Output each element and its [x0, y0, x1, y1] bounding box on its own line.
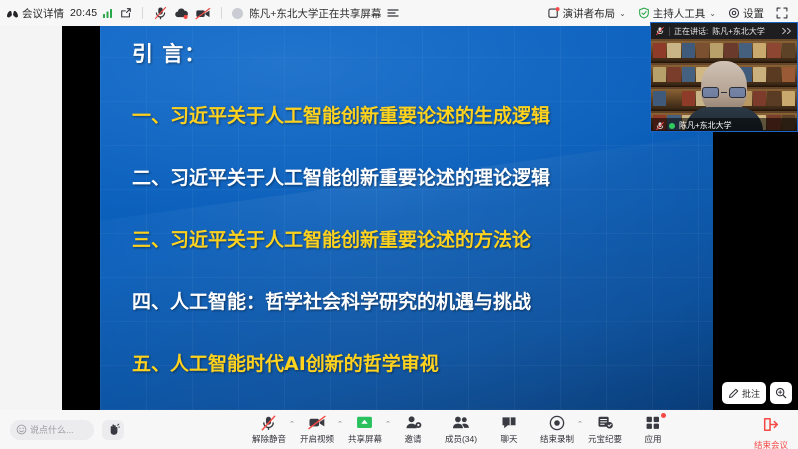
slide-content: 引 言： 一、习近平关于人工智能创新重要论述的生成逻辑 二、习近平关于人工智能创…: [100, 26, 713, 410]
shield-check-icon: [638, 7, 650, 19]
book: [782, 91, 795, 106]
divider: [669, 27, 670, 36]
settings-button[interactable]: 设置: [728, 6, 764, 21]
chat-bubble-icon: [501, 414, 517, 431]
speaking-prefix-label: 正在讲话:: [674, 26, 708, 37]
share-screen-button[interactable]: ⌃ 共享屏幕: [348, 414, 382, 445]
cloud-recording-icon[interactable]: [174, 7, 189, 20]
slide-line-3: 三、习近平关于人工智能创新重要论述的方法论: [132, 231, 713, 250]
book: [782, 43, 795, 58]
participants-button[interactable]: 成员(34): [444, 414, 478, 445]
end-meeting-label: 结束会议: [754, 439, 788, 449]
slide-line-2: 二、习近平关于人工智能创新重要论述的理论逻辑: [132, 169, 713, 188]
raise-hand-icon: [107, 423, 120, 436]
mic-muted-icon[interactable]: [153, 6, 168, 20]
divider: [142, 7, 143, 19]
apps-badge-dot: [661, 413, 666, 418]
slide-line-0: 引 言：: [132, 44, 713, 65]
book: [667, 43, 680, 58]
invite-button[interactable]: 邀请: [396, 414, 430, 445]
book: [667, 91, 680, 106]
meeting-detail-label: 会议详情: [22, 6, 64, 21]
video-off-icon: [308, 414, 326, 431]
host-tools-button[interactable]: 主持人工具 ⌄: [638, 6, 716, 21]
avatar-icon: [232, 8, 243, 19]
presentation-slide: 引 言： 一、习近平关于人工智能创新重要论述的生成逻辑 二、习近平关于人工智能创…: [100, 26, 713, 410]
book: [767, 67, 780, 82]
book: [653, 91, 666, 106]
gear-icon: [728, 7, 740, 19]
speaker-name-label: 陈凡+东北大学: [712, 26, 765, 37]
book: [782, 67, 795, 82]
pencil-icon: [728, 388, 739, 399]
signal-bars-icon[interactable]: [103, 8, 114, 18]
zoom-button[interactable]: [770, 382, 792, 404]
emoji-icon[interactable]: [16, 424, 27, 435]
chevron-up-icon[interactable]: ⌃: [577, 420, 583, 428]
exit-door-icon: [763, 417, 779, 437]
slide-line-5: 五、人工智能时代AI创新的哲学审视: [132, 355, 713, 374]
sharing-status-label: 陈凡+东北大学正在共享屏幕: [249, 6, 381, 21]
participants-label: 成员(34): [445, 433, 477, 445]
ai-notes-button[interactable]: 元宝纪要: [588, 414, 622, 445]
lens: [702, 87, 719, 98]
chat-button[interactable]: 聊天: [492, 414, 526, 445]
invite-user-icon: [405, 414, 422, 431]
layout-icon: [548, 7, 560, 19]
raise-hand-button[interactable]: [102, 420, 124, 440]
thumbnail-video-feed: 陈凡+东北大学: [651, 39, 797, 132]
chevron-up-icon[interactable]: ⌃: [385, 420, 391, 428]
unmute-button[interactable]: ⌃ 解除静音: [252, 414, 286, 445]
slide-line-1: 一、习近平关于人工智能创新重要论述的生成逻辑: [132, 107, 713, 126]
external-link-icon[interactable]: [120, 7, 132, 19]
thumbnail-footer: 陈凡+东北大学: [651, 118, 797, 132]
slide-line-4: 四、人工智能：哲学社会科学研究的机遇与挑战: [132, 293, 713, 312]
apps-grid-icon: [645, 414, 661, 431]
unmute-label: 解除静音: [252, 433, 286, 445]
apps-button[interactable]: 应用: [636, 414, 670, 445]
bottom-toolbar-center: ⌃ 解除静音 ⌃ 开启视频 ⌃ 共享屏幕: [252, 414, 670, 445]
fullscreen-icon[interactable]: [776, 7, 788, 19]
slide-tools: 批注: [722, 382, 792, 404]
chevrons-icon[interactable]: [781, 27, 793, 35]
invite-label: 邀请: [404, 433, 421, 445]
top-toolbar-left: 会议详情 20:45 陈凡+东北大学正在共享屏幕: [6, 6, 399, 21]
settings-label: 设置: [743, 6, 764, 21]
ai-notes-label: 元宝纪要: [588, 433, 622, 445]
annotate-label: 批注: [742, 387, 760, 400]
list-icon[interactable]: [387, 8, 399, 18]
stop-recording-label: 结束录制: [540, 433, 574, 445]
thumbnail-header: 正在讲话: 陈凡+东北大学: [651, 23, 797, 39]
chat-input[interactable]: 说点什么...: [10, 420, 94, 440]
host-tools-label: 主持人工具: [653, 6, 706, 21]
bottom-toolbar: 说点什么... ⌃ 解除静音 ⌃ 开启视频: [0, 410, 798, 449]
meeting-detail-button[interactable]: 会议详情: [6, 6, 64, 21]
meeting-timer: 20:45: [70, 7, 97, 19]
speaker-layout-button[interactable]: 演讲者布局 ⌄: [548, 6, 626, 21]
chevron-down-icon: ⌄: [709, 9, 716, 18]
mic-muted-icon: [655, 26, 665, 36]
book: [653, 43, 666, 58]
chevron-down-icon: ⌄: [619, 9, 626, 18]
annotate-button[interactable]: 批注: [722, 382, 766, 404]
book: [767, 43, 780, 58]
magnifier-zoom-icon: [775, 387, 787, 399]
start-video-label: 开启视频: [300, 433, 334, 445]
apps-label: 应用: [645, 433, 662, 445]
end-meeting-button[interactable]: 结束会议: [754, 417, 788, 449]
glasses-icon: [702, 87, 746, 98]
start-video-button[interactable]: ⌃ 开启视频: [300, 414, 334, 445]
mic-muted-icon: [655, 121, 665, 131]
speaking-dot-icon: [669, 123, 675, 129]
mic-muted-icon: [260, 414, 277, 431]
ai-notes-icon: [597, 414, 614, 431]
chevron-up-icon[interactable]: ⌃: [337, 420, 343, 428]
chevron-up-icon[interactable]: ⌃: [289, 420, 295, 428]
binoculars-icon: [6, 8, 19, 19]
stop-recording-button[interactable]: ⌃ 结束录制: [540, 414, 574, 445]
share-screen-icon: [356, 414, 373, 431]
speaker-video-thumbnail[interactable]: 正在讲话: 陈凡+东北大学: [650, 22, 798, 132]
video-off-icon[interactable]: [195, 7, 211, 20]
book: [667, 67, 680, 82]
thumbnail-participant-name: 陈凡+东北大学: [679, 120, 732, 131]
book: [653, 67, 666, 82]
chat-input-placeholder: 说点什么...: [30, 423, 74, 436]
share-screen-label: 共享屏幕: [348, 433, 382, 445]
record-stop-icon: [549, 414, 565, 431]
top-toolbar-right: 演讲者布局 ⌄ 主持人工具 ⌄ 设置: [548, 6, 792, 21]
meeting-window: 会议详情 20:45 陈凡+东北大学正在共享屏幕: [0, 0, 798, 449]
bridge: [721, 92, 727, 94]
lens: [729, 87, 746, 98]
chat-label: 聊天: [500, 433, 517, 445]
divider: [221, 7, 222, 19]
participants-icon: [452, 414, 470, 431]
book: [767, 91, 780, 106]
speaker-layout-label: 演讲者布局: [563, 6, 616, 21]
